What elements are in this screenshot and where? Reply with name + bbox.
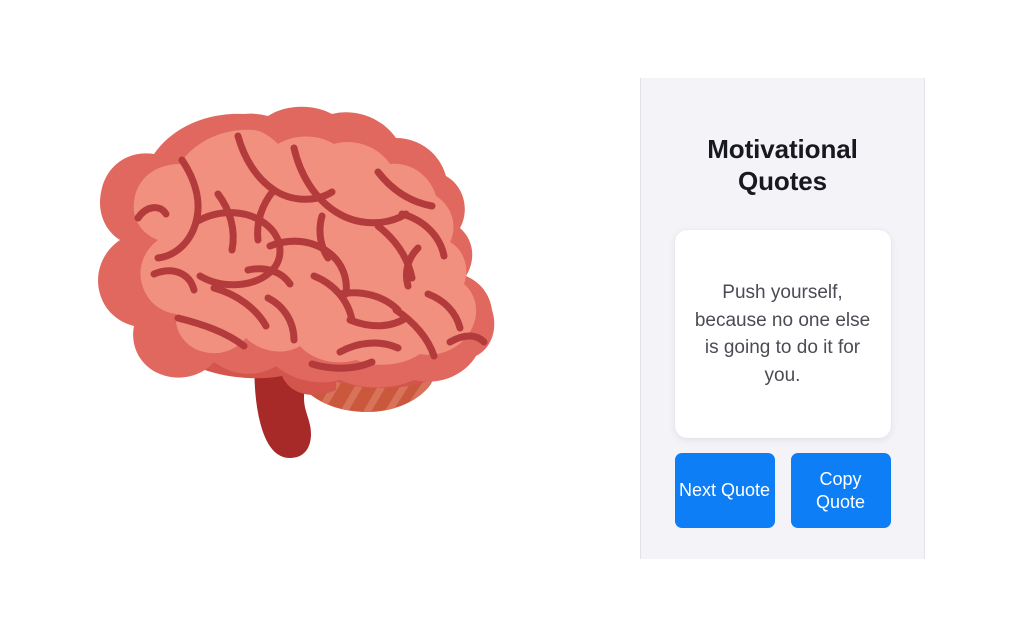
next-quote-button[interactable]: Next Quote [675, 453, 775, 528]
page-title: Motivational Quotes [675, 134, 890, 197]
brain-illustration [78, 98, 498, 468]
motivational-quotes-panel: Motivational Quotes Push yourself, becau… [640, 78, 925, 559]
quote-text: Push yourself, because no one else is go… [689, 279, 877, 390]
brain-icon [78, 98, 498, 468]
copy-quote-button[interactable]: Copy Quote [791, 453, 891, 528]
quote-actions: Next Quote Copy Quote [675, 453, 891, 528]
quote-card: Push yourself, because no one else is go… [675, 230, 891, 438]
